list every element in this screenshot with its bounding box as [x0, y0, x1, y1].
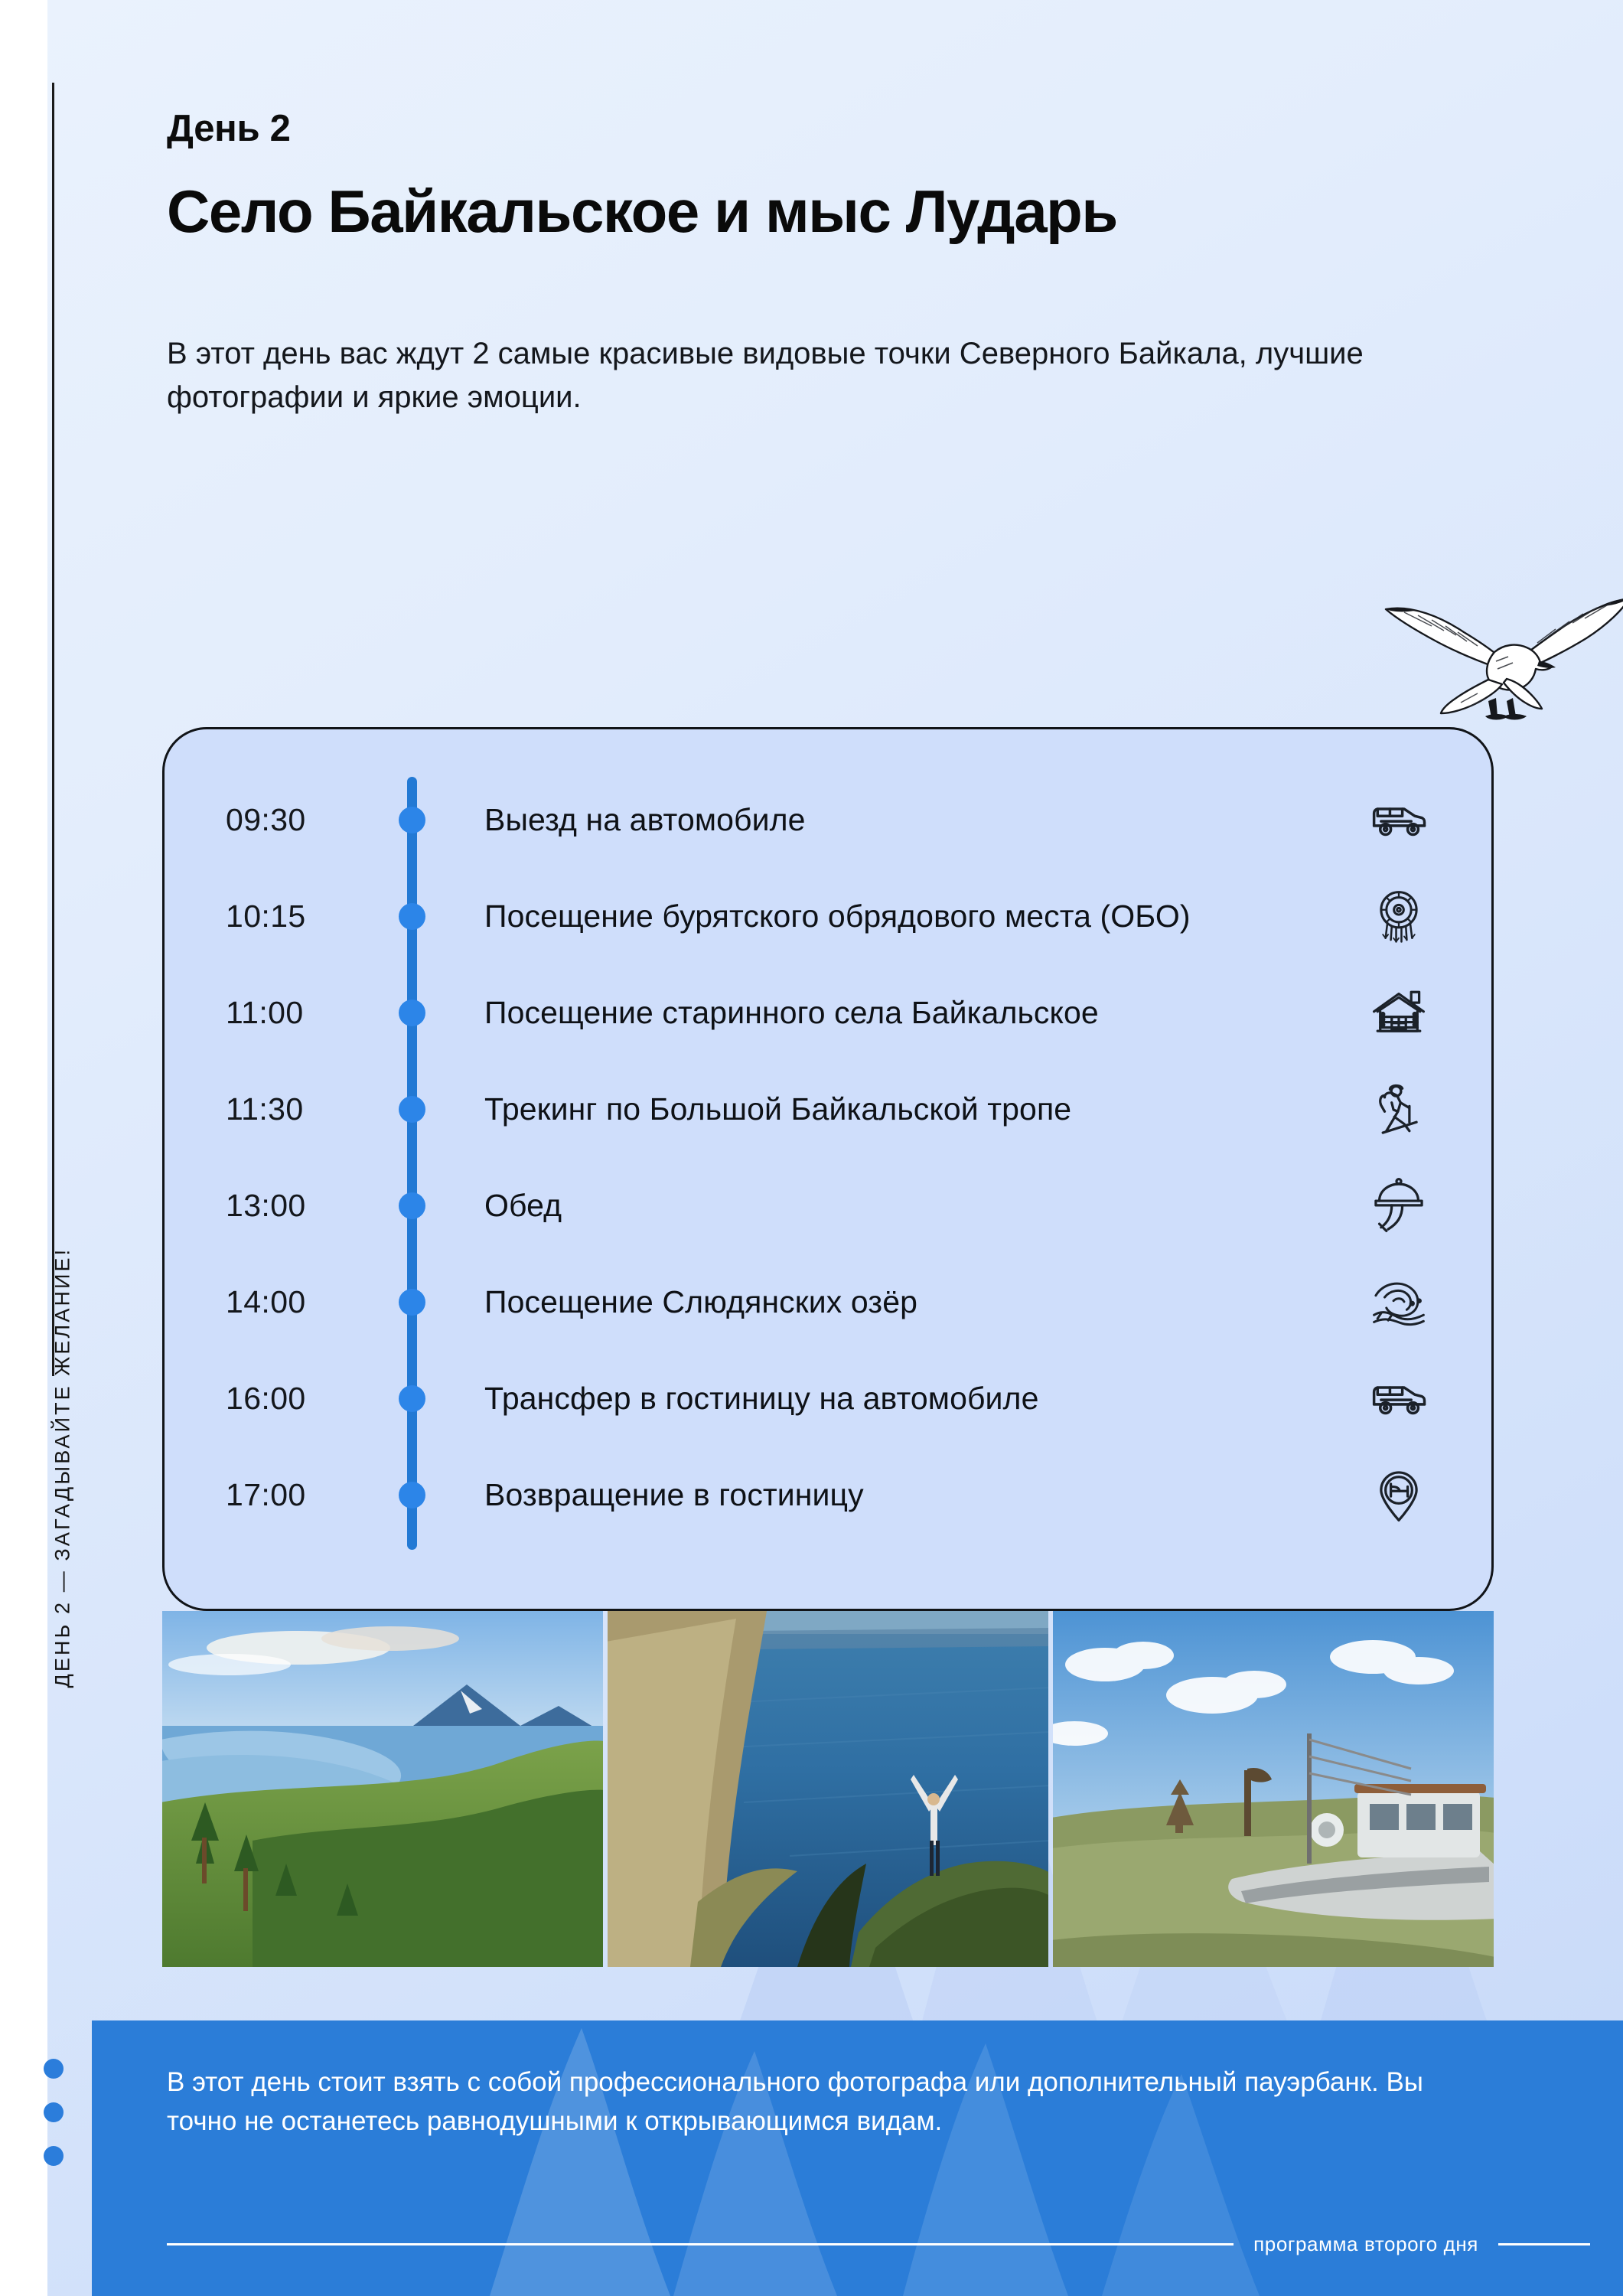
- rail-label: ДЕНЬ 2 — ЗАГАДЫВАЙТЕ ЖЕЛАНИЕ!: [51, 1107, 75, 1688]
- schedule-time: 09:30: [226, 802, 386, 838]
- schedule-label: Посещение Слюдянских озёр: [484, 1284, 917, 1320]
- schedule-label: Посещение старинного села Байкальское: [484, 995, 1099, 1031]
- timeline-dot: [400, 1001, 424, 1025]
- footer-rule-right: [1498, 2243, 1590, 2245]
- timeline-dot: [400, 1097, 424, 1121]
- wave-icon: [1366, 1271, 1432, 1334]
- schedule-row: 16:00Трансфер в гостиницу на автомобиле: [165, 1355, 1491, 1442]
- left-rail: ДЕНЬ 2 — ЗАГАДЫВАЙТЕ ЖЕЛАНИЕ!: [0, 0, 107, 2296]
- schedule-time: 10:15: [226, 899, 386, 934]
- footer-note: В этот день стоит взять с собой професси…: [167, 2063, 1468, 2141]
- schedule-time: 17:00: [226, 1477, 386, 1513]
- seagull-illustration: [1381, 582, 1623, 758]
- schedule-time: 11:00: [226, 995, 386, 1031]
- timeline-dot: [400, 1387, 424, 1411]
- schedule-row: 11:30Трекинг по Большой Байкальской троп…: [165, 1066, 1491, 1153]
- schedule-label: Посещение бурятского обрядового места (О…: [484, 899, 1191, 934]
- footer-caption-row: программа второго дня: [167, 2232, 1590, 2255]
- photo-strip: [162, 1611, 1494, 1967]
- rail-dot: [44, 2102, 64, 2122]
- timeline-dot: [400, 808, 424, 832]
- intro-paragraph: В этот день вас ждут 2 самые красивые ви…: [167, 332, 1406, 419]
- page-title: Село Байкальское и мыс Лударь: [167, 181, 1468, 243]
- day-kicker: День 2: [167, 107, 1468, 150]
- food-cloche-icon: [1366, 1175, 1432, 1238]
- rail-dot: [44, 2059, 64, 2079]
- hiker-icon: [1366, 1078, 1432, 1141]
- beached-boat-photo: [1053, 1611, 1494, 1967]
- dreamcatcher-icon: [1366, 885, 1432, 948]
- log-cabin-icon: [1366, 982, 1432, 1045]
- footer-rule-left: [167, 2243, 1234, 2245]
- cliff-lake-traveler-photo: [608, 1611, 1048, 1967]
- van-icon: [1366, 1368, 1432, 1430]
- schedule-row: 10:15Посещение бурятского обрядового мес…: [165, 873, 1491, 960]
- schedule-row: 11:00Посещение старинного села Байкальск…: [165, 970, 1491, 1056]
- timeline-dot: [400, 1290, 424, 1314]
- timeline-dot: [400, 1194, 424, 1218]
- schedule-label: Обед: [484, 1188, 562, 1224]
- schedule-time: 16:00: [226, 1381, 386, 1417]
- schedule-label: Трансфер в гостиницу на автомобиле: [484, 1381, 1038, 1417]
- schedule-label: Выезд на автомобиле: [484, 802, 806, 838]
- footer-caption: программа второго дня: [1253, 2232, 1478, 2256]
- schedule-row: 13:00Обед: [165, 1163, 1491, 1249]
- schedule-card: 09:30Выезд на автомобиле 10:15Посещение …: [162, 727, 1494, 1611]
- schedule-row: 14:00Посещение Слюдянских озёр: [165, 1259, 1491, 1345]
- footer-band: В этот день стоит взять с собой професси…: [92, 2020, 1623, 2296]
- page-header: День 2 Село Байкальское и мыс Лударь В э…: [167, 107, 1468, 419]
- schedule-time: 14:00: [226, 1284, 386, 1320]
- timeline-dot: [400, 1483, 424, 1507]
- rail-dot: [44, 2146, 64, 2166]
- schedule-time: 13:00: [226, 1188, 386, 1224]
- hotel-pin-icon: [1366, 1464, 1432, 1527]
- schedule-label: Возвращение в гостиницу: [484, 1477, 864, 1513]
- baikal-bay-viewpoint-photo: [162, 1611, 603, 1967]
- rail-dot-group: [44, 2059, 64, 2190]
- timeline-dot: [400, 905, 424, 928]
- schedule-row: 17:00Возвращение в гостиницу: [165, 1452, 1491, 1538]
- schedule-label: Трекинг по Большой Байкальской тропе: [484, 1091, 1071, 1127]
- schedule-time: 11:30: [226, 1091, 386, 1127]
- schedule-row: 09:30Выезд на автомобиле: [165, 777, 1491, 863]
- van-icon: [1366, 789, 1432, 852]
